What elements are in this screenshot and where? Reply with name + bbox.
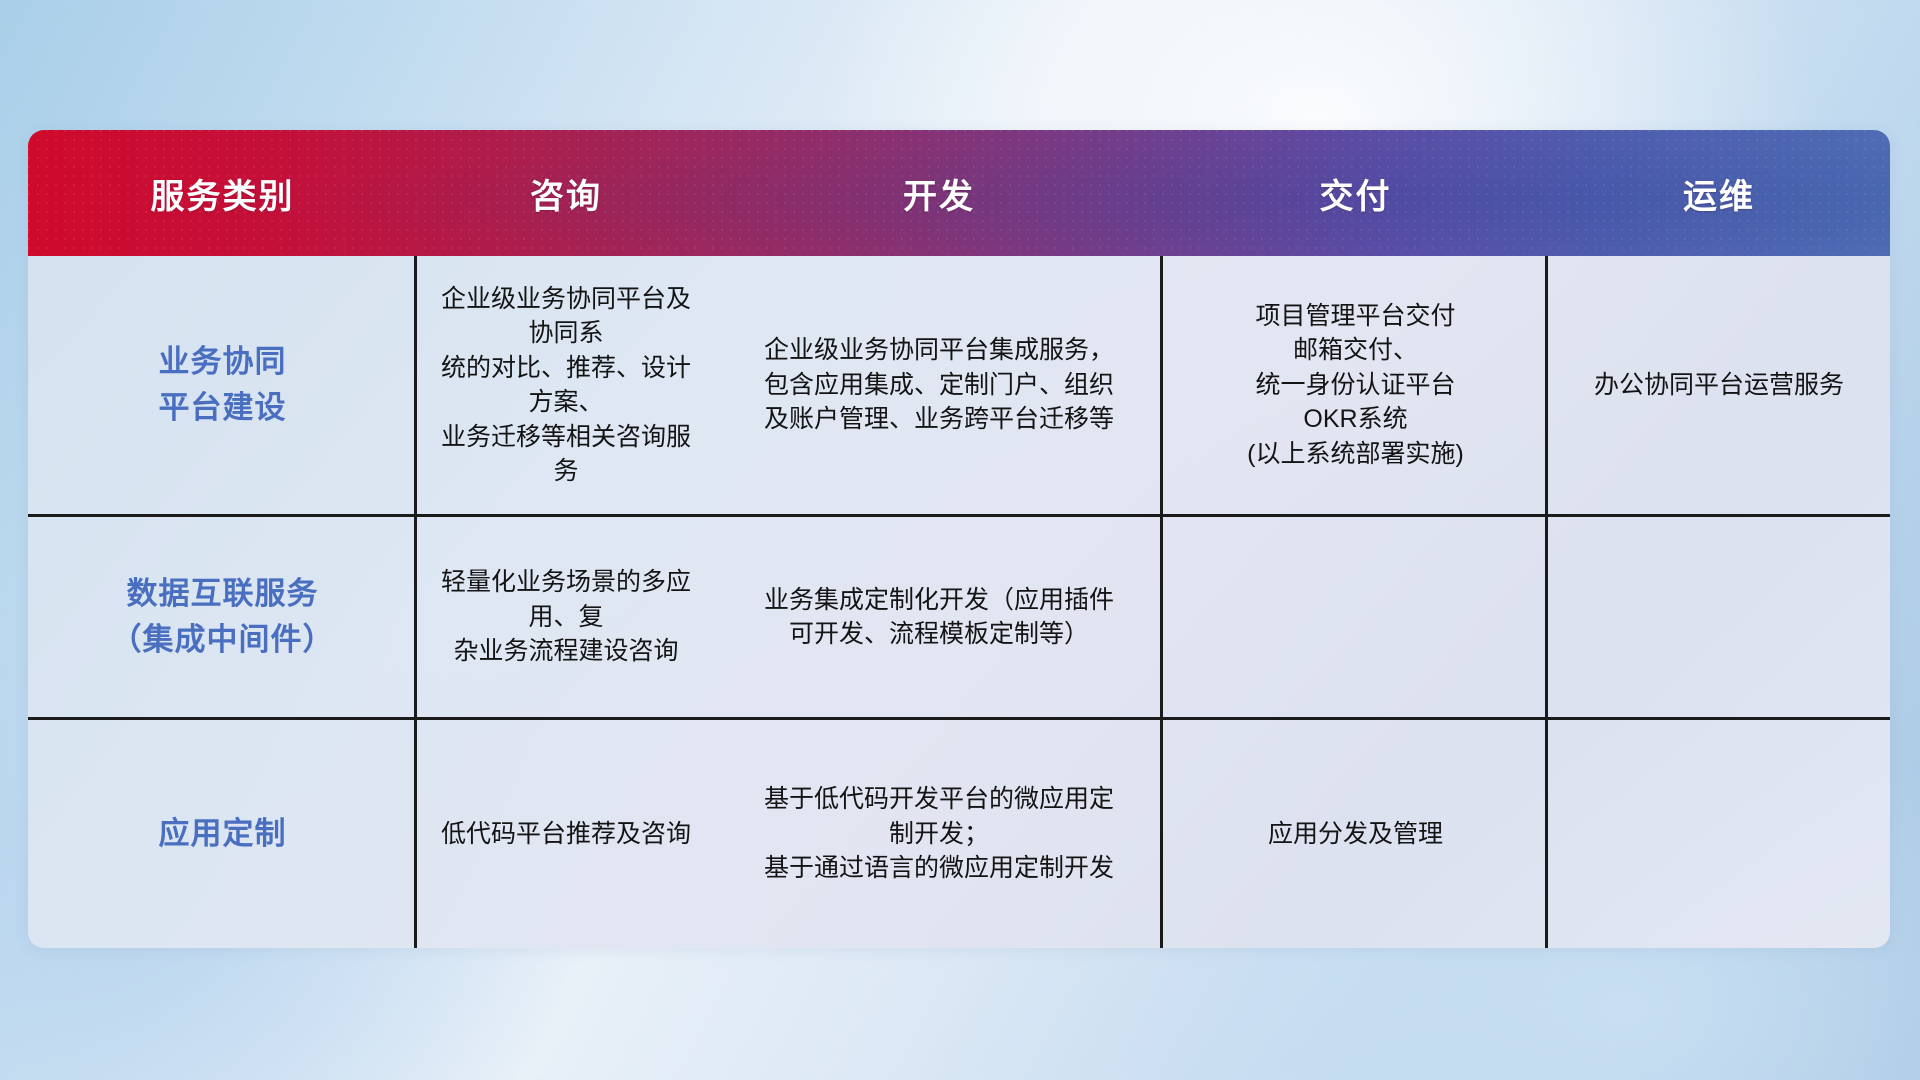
cell-consulting: 轻量化业务场景的多应用、复 杂业务流程建设咨询 (417, 517, 715, 717)
table-body: 业务协同 平台建设 企业级业务协同平台及协同系 统的对比、推荐、设计方案、 业务… (28, 256, 1890, 948)
cell-consulting: 低代码平台推荐及咨询 (417, 720, 715, 948)
table-row: 应用定制 低代码平台推荐及咨询 基于低代码开发平台的微应用定 制开发； 基于通过… (28, 720, 1890, 948)
column-header-category: 服务类别 (28, 130, 417, 256)
cell-delivery: 项目管理平台交付 邮箱交付、 统一身份认证平台 OKR系统 (以上系统部署实施) (1163, 256, 1548, 514)
cell-delivery (1163, 517, 1548, 717)
cell-development: 业务集成定制化开发（应用插件 可开发、流程模板定制等） (715, 517, 1163, 717)
cell-operations (1548, 517, 1890, 717)
table-row: 业务协同 平台建设 企业级业务协同平台及协同系 统的对比、推荐、设计方案、 业务… (28, 256, 1890, 517)
column-header-operations: 运维 (1548, 130, 1890, 256)
table-row: 数据互联服务 （集成中间件） 轻量化业务场景的多应用、复 杂业务流程建设咨询 业… (28, 517, 1890, 720)
column-header-development: 开发 (715, 130, 1163, 256)
cell-consulting: 企业级业务协同平台及协同系 统的对比、推荐、设计方案、 业务迁移等相关咨询服务 (417, 256, 715, 514)
cell-category: 数据互联服务 （集成中间件） (28, 517, 417, 717)
column-header-delivery: 交付 (1163, 130, 1548, 256)
cell-operations: 办公协同平台运营服务 (1548, 256, 1890, 514)
cell-operations (1548, 720, 1890, 948)
cell-category: 应用定制 (28, 720, 417, 948)
cell-development: 基于低代码开发平台的微应用定 制开发； 基于通过语言的微应用定制开发 (715, 720, 1163, 948)
column-header-consulting: 咨询 (417, 130, 715, 256)
service-matrix-table: 服务类别 咨询 开发 交付 运维 业务协同 平台建设 企业级业务协同平台及协同系… (28, 130, 1890, 948)
cell-delivery: 应用分发及管理 (1163, 720, 1548, 948)
cell-category: 业务协同 平台建设 (28, 256, 417, 514)
table-header-row: 服务类别 咨询 开发 交付 运维 (28, 130, 1890, 256)
cell-development: 企业级业务协同平台集成服务， 包含应用集成、定制门户、组织 及账户管理、业务跨平… (715, 256, 1163, 514)
